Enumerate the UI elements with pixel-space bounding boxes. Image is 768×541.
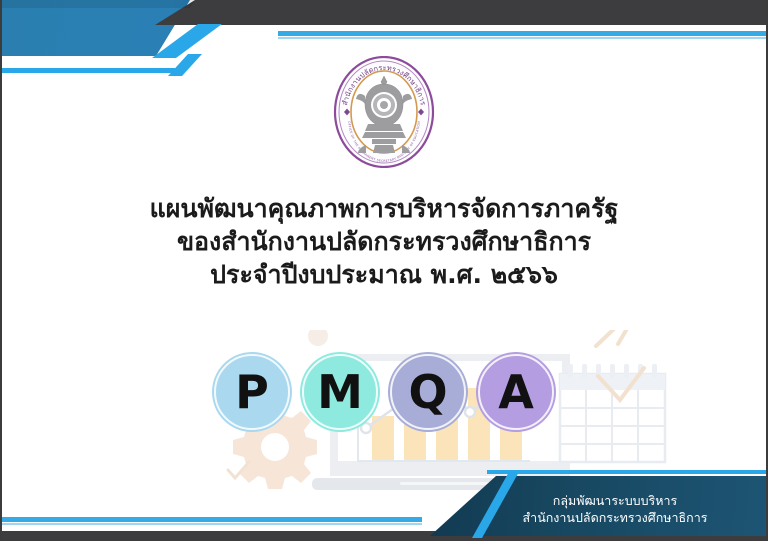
checkmark-graphic bbox=[228, 462, 249, 478]
pmqa-circle-m: M bbox=[300, 352, 380, 432]
top-right-cyan-rule-light bbox=[278, 37, 768, 39]
title-line-1: แผนพัฒนาคุณภาพการบริหารจัดการภาครัฐ bbox=[0, 192, 768, 225]
footer-line-1: กลุ่มพัฒนาระบบบริหาร bbox=[470, 492, 760, 509]
pmqa-acronym-row: P M Q A bbox=[0, 352, 768, 432]
bottom-cyan-rule bbox=[2, 517, 422, 522]
ministry-of-education-seal-icon: สำนักงานปลัดกระทรวงศึกษาธิการ OFFICE OF … bbox=[332, 56, 436, 168]
pmqa-circle-q: Q bbox=[388, 352, 468, 432]
bottom-cyan-rule-light bbox=[2, 523, 422, 525]
pmqa-circle-a: A bbox=[476, 352, 556, 432]
footer-line-2: สำนักงานปลัดกระทรวงศึกษาธิการ bbox=[470, 509, 760, 526]
footer-text: กลุ่มพัฒนาระบบบริหาร สำนักงานปลัดกระทรวง… bbox=[470, 492, 760, 526]
top-right-cyan-rule bbox=[278, 31, 768, 36]
presentation-slide: สำนักงานปลัดกระทรวงศึกษาธิการ OFFICE OF … bbox=[0, 0, 768, 541]
pmqa-letter-a: A bbox=[498, 369, 534, 415]
title-line-2: ของสำนักงานปลัดกระทรวงศึกษาธิการ bbox=[0, 225, 768, 258]
title-line-3: ประจำปีงบประมาณ พ.ศ. ๒๕๖๖ bbox=[0, 258, 768, 291]
pmqa-letter-m: M bbox=[317, 369, 363, 415]
slide-title: แผนพัฒนาคุณภาพการบริหารจัดการภาครัฐ ของส… bbox=[0, 192, 768, 291]
left-border bbox=[0, 0, 2, 541]
pmqa-circle-p: P bbox=[212, 352, 292, 432]
footer-top-cyan-rule bbox=[487, 470, 768, 474]
pmqa-letter-p: P bbox=[235, 369, 269, 415]
emblem-container: สำนักงานปลัดกระทรวงศึกษาธิการ OFFICE OF … bbox=[0, 56, 768, 173]
pmqa-letter-q: Q bbox=[408, 369, 447, 415]
